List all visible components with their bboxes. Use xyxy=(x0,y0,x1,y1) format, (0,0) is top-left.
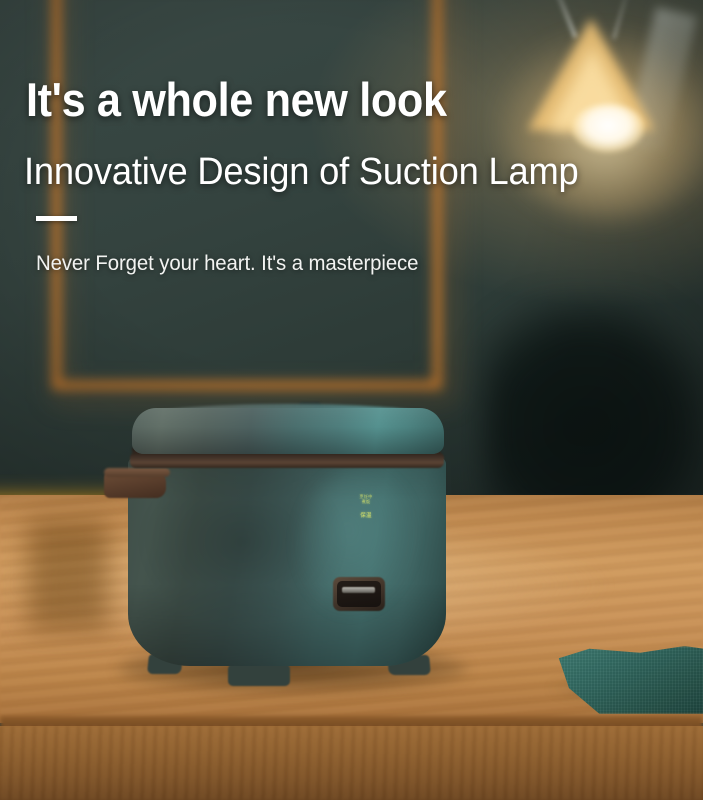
indicator-sublabel-cook: 煮饭 xyxy=(342,499,390,504)
cooker-foot-center xyxy=(228,664,290,686)
cooker-lid-shading xyxy=(132,408,444,454)
indicator-label-keepwarm: 保温 xyxy=(342,513,390,519)
cooker-indicator-labels: 烹饪中 煮饭 保温 xyxy=(342,494,390,519)
cooker-rim-band xyxy=(130,452,444,468)
page-tagline: Never Forget your heart. It's a masterpi… xyxy=(36,250,418,277)
cooker-handle-top-edge xyxy=(104,468,170,477)
product-hero-banner: 烹饪中 煮饭 保温 It's a whole new look Innovati… xyxy=(0,0,703,800)
cook-switch-lever[interactable] xyxy=(342,587,375,593)
title-divider xyxy=(36,216,77,221)
page-title: It's a whole new look xyxy=(26,74,447,126)
page-subtitle: Innovative Design of Suction Lamp xyxy=(24,151,579,193)
cook-switch-face[interactable] xyxy=(337,581,381,607)
